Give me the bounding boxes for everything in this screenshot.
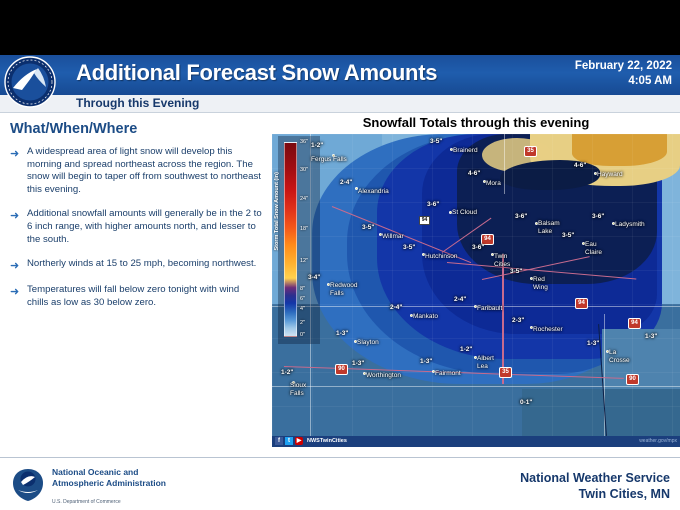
office-line-1: National Weather Service [520,470,670,486]
city-label: Hayward [597,171,623,179]
snow-value: 3-5" [562,232,574,239]
snow-value: 2-3" [512,317,524,324]
snow-value: 0-1" [520,399,532,406]
city-label: Fergus Falls [311,156,347,164]
snowfall-map[interactable]: Storm Total Snow Amount (in) 36" 30" 24"… [272,134,680,436]
youtube-icon[interactable]: ▶ [295,437,303,445]
legend-tick: 8" [300,286,305,292]
city-label: Albert Lea [477,355,497,370]
snow-value: 3-6" [427,201,439,208]
agency-line-2: Atmospheric Administration [52,478,166,489]
office-line-2: Twin Cities, MN [520,486,670,502]
snow-value: 1-3" [645,333,657,340]
legend-tick: 18" [300,226,308,232]
snow-value: 4-6" [574,162,586,169]
snow-value: 3-4" [308,274,320,281]
highway-shield: 94 [628,318,641,329]
social-handle[interactable]: NWSTwinCities [307,438,347,444]
list-item: ➜ Northerly winds at 15 to 25 mph, becom… [10,258,262,272]
arrow-icon: ➜ [10,284,27,309]
map-title: Snowfall Totals through this evening [272,115,680,130]
city-label: Mora [486,180,501,188]
city-label: Fairmont [435,370,461,378]
snow-value: 1-3" [420,358,432,365]
city-label: Ladysmith [615,221,645,229]
highway-shield: 35 [524,146,537,157]
highway-shield: 94 [575,298,588,309]
header-date: February 22, 2022 [575,59,672,74]
city-label: Slayton [357,339,379,347]
city-label: La Crosse [609,349,633,364]
snow-value: 3-6" [592,213,604,220]
legend-tick: 4" [300,306,305,312]
facebook-icon[interactable]: f [275,437,283,445]
snow-value: 3-5" [403,244,415,251]
highway-shield: 94 [419,216,430,225]
bullet-text: Northerly winds at 15 to 25 mph, becomin… [27,258,256,272]
noaa-nws-logo [4,56,56,108]
snow-value: 3-6" [472,244,484,251]
agency-line-1: National Oceanic and [52,467,166,478]
list-item: ➜ Temperatures will fall below zero toni… [10,284,262,309]
legend-tick: 2" [300,320,305,326]
noaa-logo [10,466,46,502]
what-when-where-panel: What/When/Where ➜ A widespread area of l… [0,113,272,457]
city-label: Faribault [477,305,502,313]
city-label: Mankato [413,313,438,321]
panel-heading: What/When/Where [10,121,262,137]
city-label: Eau Claire [585,241,609,256]
snow-value: 3-6" [515,213,527,220]
city-label: Rochester [533,326,563,334]
snow-value: 1-3" [336,330,348,337]
snow-value: 3-5" [362,224,374,231]
city-label: Redwood Falls [330,282,366,297]
slide-canvas: Additional Forecast Snow Amounts Through… [0,55,680,457]
city-label: Brainerd [453,147,478,155]
map-watermark: weather.gov/mpx [639,438,677,444]
map-footer-strip: f t ▶ NWSTwinCities weather.gov/mpx [272,436,680,447]
snow-value: 2-4" [390,304,402,311]
snow-value: 3-5" [510,268,522,275]
highway-shield: 90 [626,374,639,385]
road-line [502,254,504,384]
snow-value: 1-2" [460,346,472,353]
agency-name: National Oceanic and Atmospheric Adminis… [52,467,166,488]
highway-shield: 90 [335,364,348,375]
snow-value: 1-2" [311,142,323,149]
footer-bar: National Oceanic and Atmospheric Adminis… [0,457,680,510]
snow-value: 1-2" [281,369,293,376]
legend-tick: 6" [300,296,305,302]
snow-value: 2-4" [340,179,352,186]
legend-colorbar [284,142,297,337]
highway-shield: 35 [499,367,512,378]
city-label: Willmar [382,233,404,241]
snow-value: 4-6" [468,170,480,177]
agency-department: U.S. Department of Commerce [52,499,121,505]
snow-value: 3-5" [430,138,442,145]
twitter-icon[interactable]: t [285,437,293,445]
page-subtitle: Through this Evening [76,96,199,110]
list-item: ➜ A widespread area of light snow will d… [10,146,262,196]
snow-value: 1-3" [587,340,599,347]
city-label: Sioux Falls [290,382,316,397]
legend-tick: 30" [300,167,308,173]
legend-tick: 24" [300,196,308,202]
snow-value: 1-3" [352,360,364,367]
legend-tick: 36" [300,139,308,145]
arrow-icon: ➜ [10,258,27,272]
header-time: 4:05 AM [575,74,672,89]
office-name: National Weather Service Twin Cities, MN [520,470,670,502]
arrow-icon: ➜ [10,146,27,196]
snow-value: 2-4" [454,296,466,303]
legend-title: Storm Total Snow Amount (in) [274,172,280,251]
city-label: Worthington [366,372,401,380]
city-label: St Cloud [452,209,478,217]
arrow-icon: ➜ [10,208,27,246]
legend-tick: 0" [300,332,305,338]
header-datetime: February 22, 2022 4:05 AM [575,59,672,89]
legend-tick: 12" [300,258,308,264]
bullet-text: A widespread area of light snow will dev… [27,146,262,196]
city-label: Hutchinson [425,253,458,261]
social-links[interactable]: f t ▶ NWSTwinCities [275,437,347,445]
page-title: Additional Forecast Snow Amounts [76,60,437,86]
bullet-text: Temperatures will fall below zero tonigh… [27,284,262,309]
city-label: Alexandria [358,188,389,196]
list-item: ➜ Additional snowfall amounts will gener… [10,208,262,246]
map-panel: Snowfall Totals through this evening [272,113,680,457]
city-label: Red Wing [533,276,553,291]
bullet-text: Additional snowfall amounts will general… [27,208,262,246]
city-label: Twin Cities [494,253,518,268]
